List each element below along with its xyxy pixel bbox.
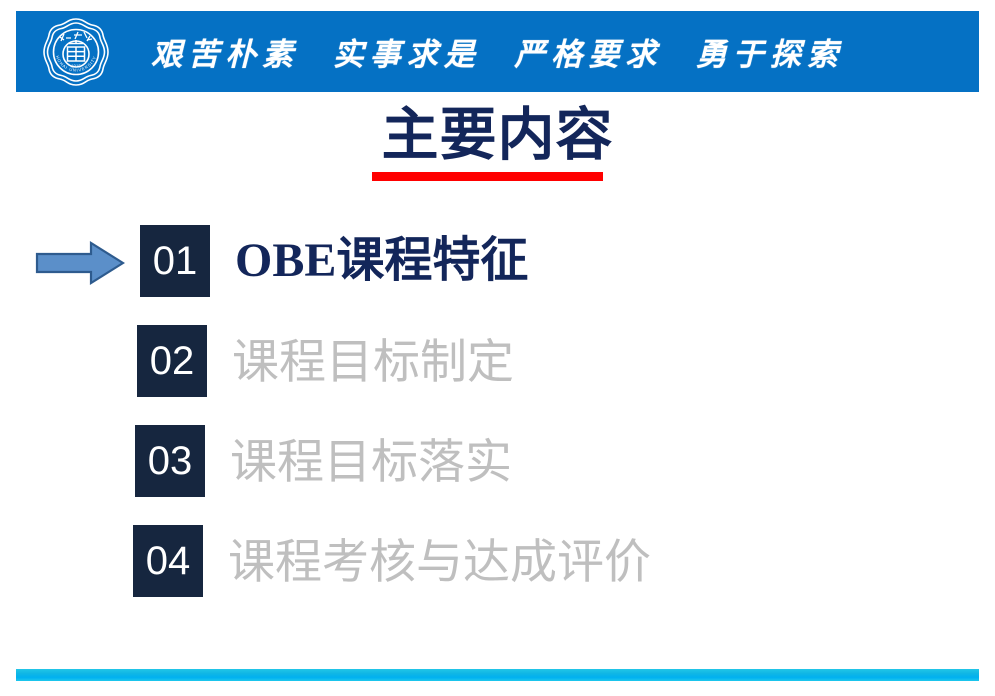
agenda-number-badge: 01 [140,225,210,297]
agenda-item-label: OBE课程特征 [235,237,528,285]
agenda-item-label: 课程考核与达成评价 [228,538,651,585]
agenda-number-badge: 04 [133,525,203,597]
agenda-list: 01 OBE课程特征 02 课程目标制定 03 课程目标落实 04 课程考核与达… [0,0,995,696]
agenda-item-04[interactable]: 04 课程考核与达成评价 [133,525,651,597]
footer-accent-bar [16,669,979,681]
agenda-item-03[interactable]: 03 课程目标落实 [135,425,512,497]
slide-canvas: 1915 HOHAI UNIVERSITY 艰苦朴素 实事求是 严格要求 勇于探… [0,0,995,696]
agenda-item-02[interactable]: 02 课程目标制定 [137,325,514,397]
agenda-number-badge: 03 [135,425,205,497]
agenda-item-01[interactable]: 01 OBE课程特征 [140,225,528,297]
agenda-item-label: 课程目标制定 [232,338,514,385]
agenda-number-badge: 02 [137,325,207,397]
agenda-item-label: 课程目标落实 [230,438,512,485]
